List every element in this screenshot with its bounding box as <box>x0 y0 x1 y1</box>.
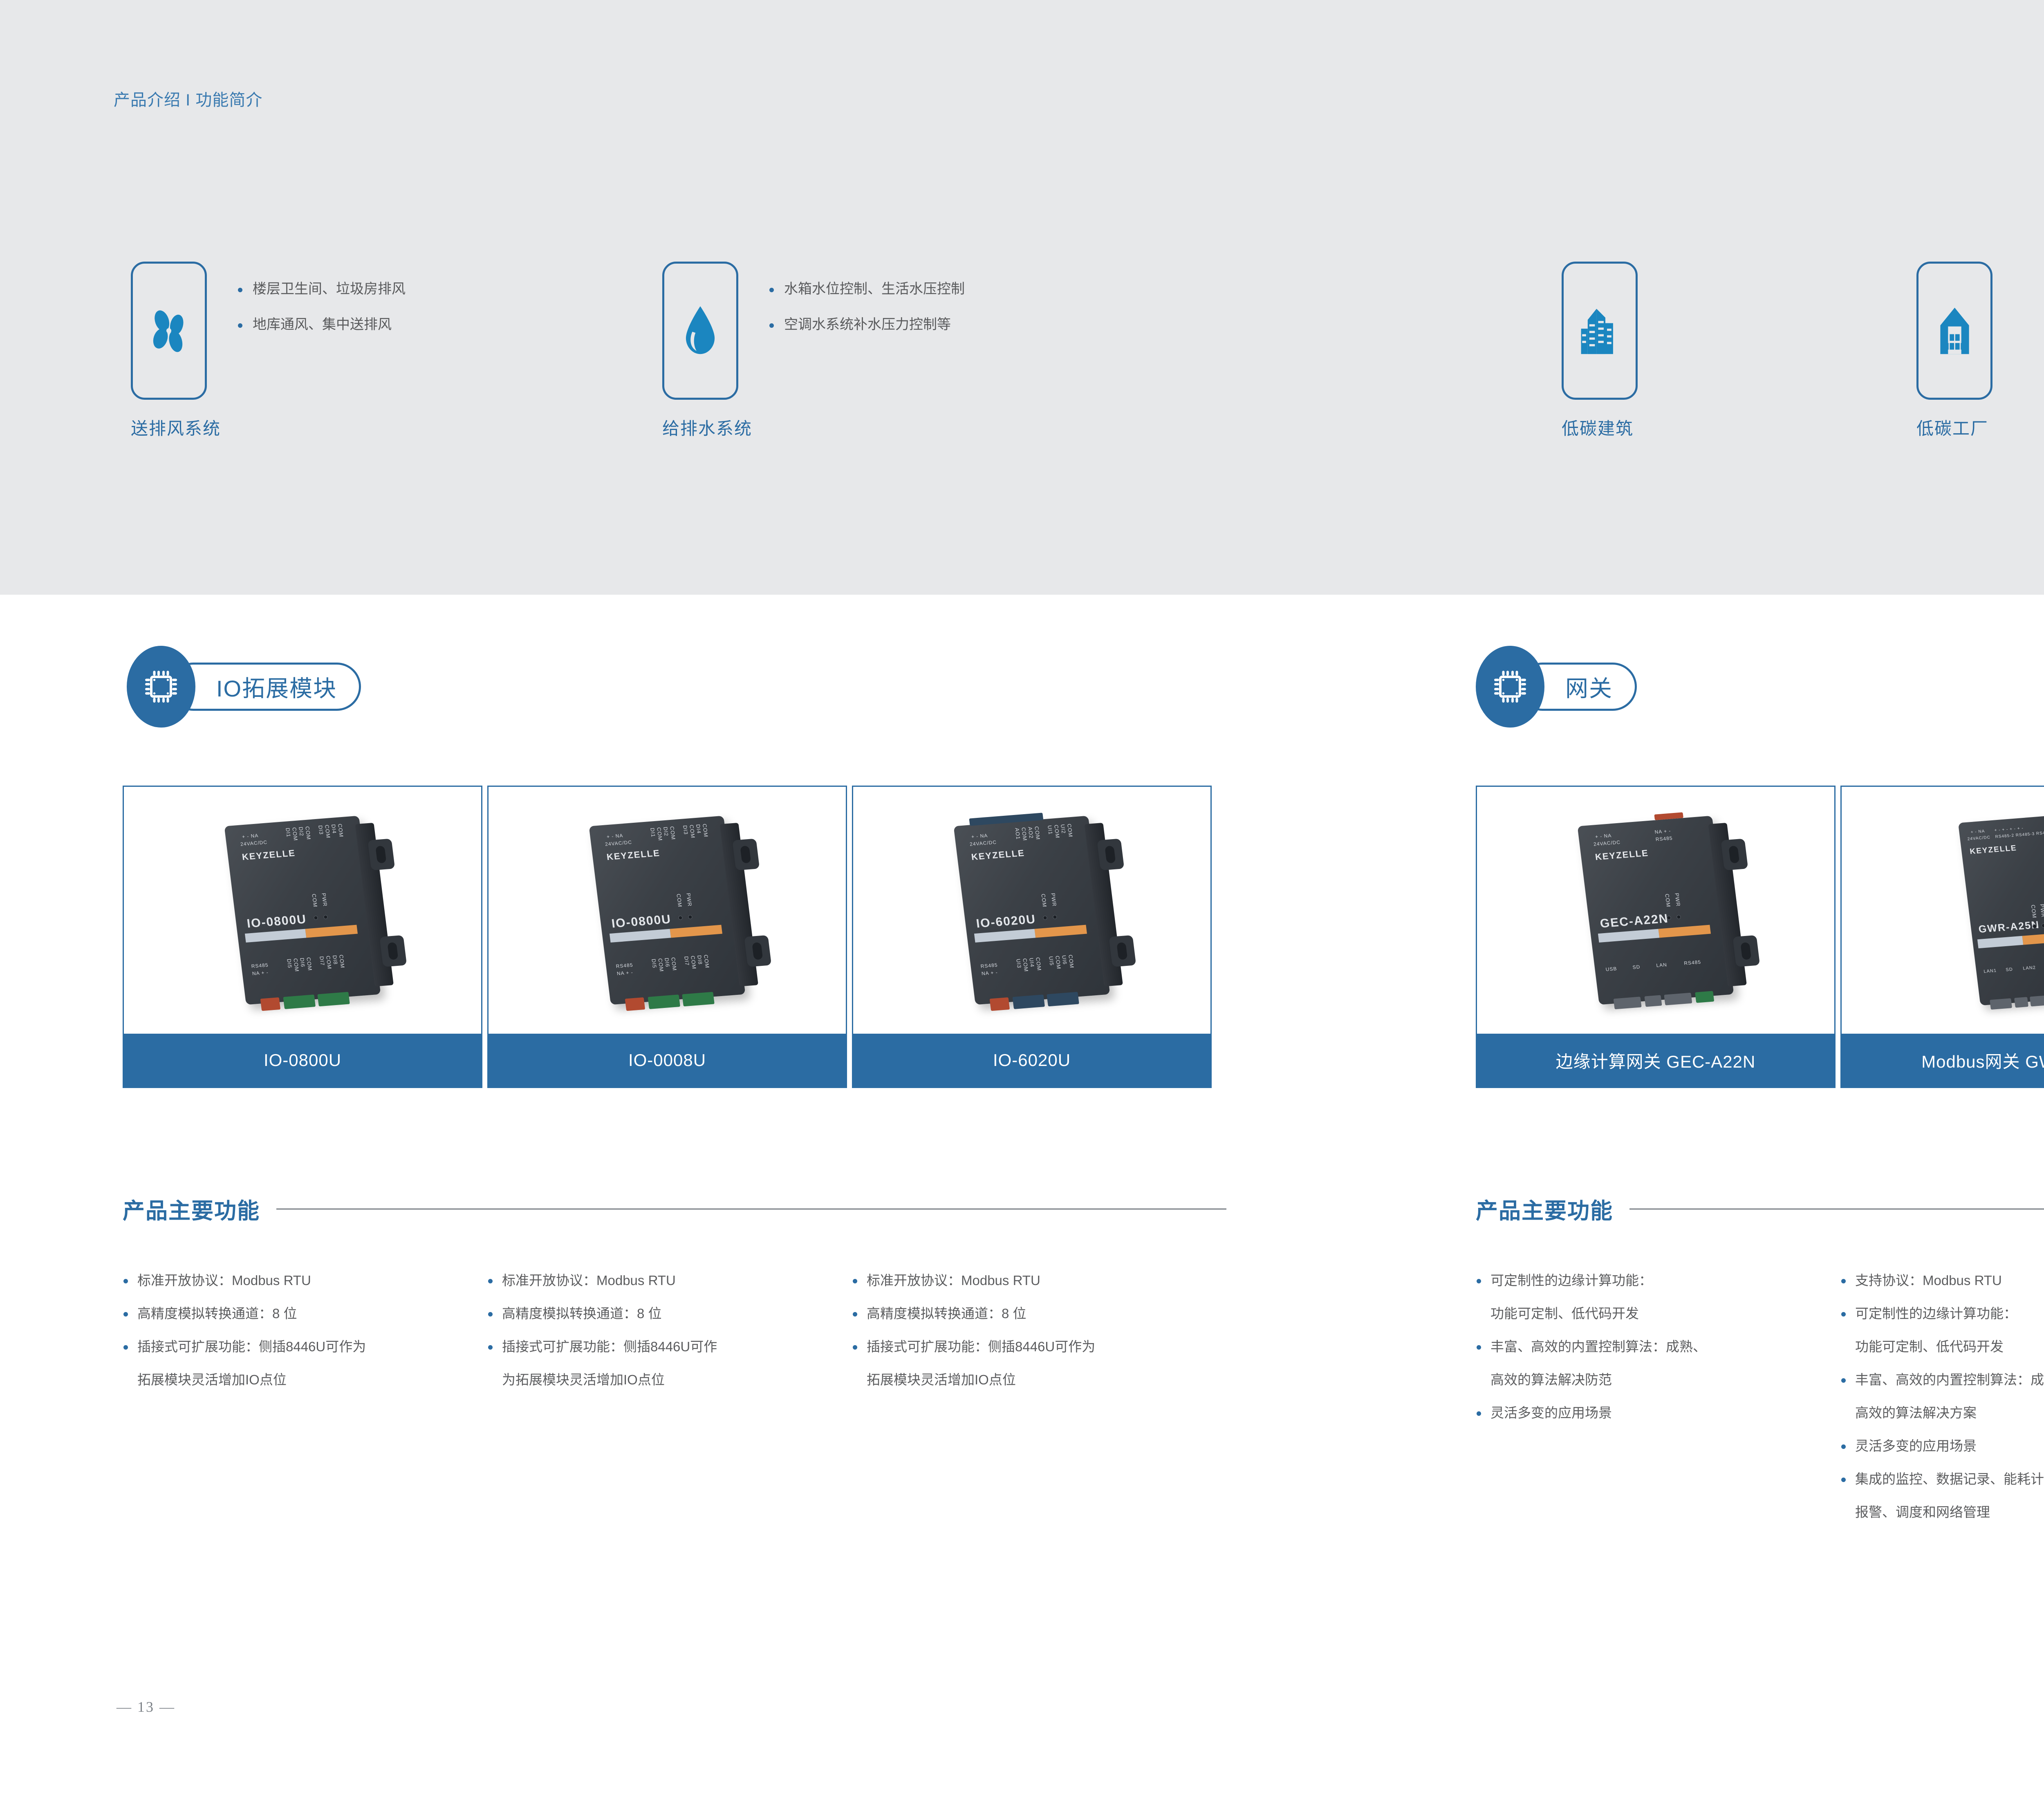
feature-list: 标准开放协议：Modbus RTU 高精度模拟转换通道：8 位 插接式可扩展功能… <box>123 1274 462 1406</box>
feature-list: 标准开放协议：Modbus RTU 高精度模拟转换通道：8 位 插接式可扩展功能… <box>852 1274 1191 1406</box>
device-brand: KEYZELLE <box>971 848 1026 862</box>
feature-item: 标准开放协议：Modbus RTU <box>852 1274 1191 1287</box>
device-port-label: LAN1 <box>1983 968 1997 974</box>
device-rs485-pins-top: + - + - + - + - <box>1994 826 2024 833</box>
features-title: 产品主要功能 <box>123 1193 260 1225</box>
device-terminal: COM <box>1033 826 1041 840</box>
device-terminal: DI3 <box>317 825 325 835</box>
water-drop-icon <box>662 262 738 400</box>
device-terminal: DI4 <box>330 824 338 834</box>
product-card[interactable]: + - NA 24VAC/DC KEYZELLE DI1 COM DI2 COM… <box>123 786 482 1088</box>
device-rs485-label: RS485 <box>980 962 998 969</box>
bullet-item: 楼层卫生间、垃圾房排风 <box>235 282 406 296</box>
device-terminal: DI1 <box>649 828 657 837</box>
device-terminal: COM <box>338 954 346 968</box>
scenario-bullets: 楼层卫生间、垃圾房排风 地库通风、集中送排风 <box>235 262 406 353</box>
device-power-pins: + - NA <box>1970 829 1985 835</box>
scenario-low-carbon-factory: 低碳工厂 <box>1916 262 1992 400</box>
section-badge-label: 网关 <box>1565 670 1613 703</box>
divider <box>1629 1208 2044 1210</box>
device-port-label: USB <box>1605 966 1617 972</box>
device-terminal: COM <box>669 826 677 840</box>
device-port-label: LAN2 <box>2023 965 2036 971</box>
device-power-label: 24VAC/DC <box>240 839 267 847</box>
feature-item: 标准开放协议：Modbus RTU <box>123 1274 462 1287</box>
device-model: IO-0800U <box>246 912 307 931</box>
device-rs485-label: RS485 <box>616 962 633 969</box>
scenario-low-carbon-building: 低碳建筑 <box>1562 262 1638 400</box>
features-header: 产品主要功能 <box>123 1193 1226 1225</box>
product-label: IO-0800U <box>124 1034 481 1087</box>
device-terminal: DI7 <box>318 956 326 966</box>
device-power-pins: + - NA <box>242 833 259 840</box>
feature-item: 插接式可扩展功能：侧插8446U可作为拓展模块灵活增加IO点位 <box>487 1340 827 1386</box>
device-terminal: DI6 <box>299 958 306 967</box>
feature-list: 支持协议：Modbus RTU 可定制性的边缘计算功能：功能可定制、低代码开发 … <box>1840 1274 2044 1538</box>
feature-item: 丰富、高效的内置控制算法：成熟、高效的算法解决方案 <box>1840 1373 2044 1420</box>
device-terminal: UI4 <box>1028 958 1035 967</box>
page-number-left: — 13 — <box>117 1698 175 1715</box>
scenario-water-supply: 水箱水位控制、生活水压控制 空调水系统补水压力控制等 给排水系统 <box>662 262 965 400</box>
feature-item: 可定制性的边缘计算功能：功能可定制、低代码开发 <box>1476 1274 1815 1320</box>
section-badge-gateway: 网关 <box>1476 646 1637 728</box>
device-terminal: UI2 <box>1060 824 1067 834</box>
device-terminal: UI5 <box>1048 956 1055 966</box>
section-badge-pill: IO拓展模块 <box>169 663 361 711</box>
device-terminal: DI2 <box>662 826 670 836</box>
device-terminal: COM <box>337 824 345 837</box>
device-terminal: UI6 <box>1061 955 1068 965</box>
feature-item: 可定制性的边缘计算功能：功能可定制、低代码开发 <box>1840 1307 2044 1353</box>
bullet-item: 空调水系统补水压力控制等 <box>767 318 965 331</box>
device-led-label: PWR <box>1050 893 1058 907</box>
device-terminal: COM <box>670 957 678 971</box>
product-label: 边缘计算网关 GEC-A22N <box>1477 1034 1834 1087</box>
device-power-label: 24VAC/DC <box>969 839 997 847</box>
device-terminal: DI5 <box>650 958 658 968</box>
device-terminal: DI5 <box>286 958 293 968</box>
device-brand: KEYZELLE <box>242 848 296 862</box>
feature-item: 灵活多变的应用场景 <box>1840 1439 2044 1453</box>
device-brand: KEYZELLE <box>1969 844 2017 856</box>
device-model: GWR-A25N <box>1978 919 2040 936</box>
device-power-label: 24VAC/DC <box>1593 839 1620 847</box>
device-terminal: COM <box>305 957 313 971</box>
device-terminal: COM <box>1066 824 1074 837</box>
bullet-item: 水箱水位控制、生活水压控制 <box>767 282 965 296</box>
feature-item: 标准开放协议：Modbus RTU <box>487 1274 827 1287</box>
scenario-caption: 给排水系统 <box>662 415 752 440</box>
brochure-spread: 产品介绍 I 功能简介 产品介绍 I 功能简介 楼层卫生间、垃圾房排风 地库通风… <box>0 0 2044 1798</box>
feature-item: 插接式可扩展功能：侧插8446U可作为拓展模块灵活增加IO点位 <box>852 1340 1191 1386</box>
device-rs485-pins: NA + - <box>616 970 633 976</box>
product-card[interactable]: + - NA 24VAC/DC + - + - + - + - RS485-2 … <box>1840 786 2044 1088</box>
feature-item: 灵活多变的应用场景 <box>1476 1406 1815 1420</box>
product-label: IO-6020U <box>853 1034 1210 1087</box>
fan-icon <box>131 262 207 400</box>
device-led-label: PWR <box>2039 904 2044 918</box>
chip-icon <box>1476 646 1544 728</box>
device-terminal: COM <box>1035 957 1042 971</box>
product-photo: + - NA 24VAC/DC + - + - + - + - RS485-2 … <box>1842 787 2044 1034</box>
product-card[interactable]: + - NA 24VAC/DC KEYZELLE AO1 COM AO2 COM… <box>852 786 1212 1088</box>
device-terminal: DI3 <box>682 825 689 835</box>
feature-list: 可定制性的边缘计算功能：功能可定制、低代码开发 丰富、高效的内置控制算法：成熟、… <box>1476 1274 1815 1439</box>
product-photo: + - NA 24VAC/DC KEYZELLE DI1 COM DI2 COM… <box>124 787 481 1034</box>
device-terminal: UI1 <box>1047 825 1054 835</box>
feature-item: 高精度模拟转换通道：8 位 <box>852 1307 1191 1320</box>
product-photo: + - NA 24VAC/DC KEYZELLE DI1 COM DI2 COM… <box>489 787 846 1034</box>
features-title: 产品主要功能 <box>1476 1193 1613 1225</box>
feature-list: 标准开放协议：Modbus RTU 高精度模拟转换通道：8 位 插接式可扩展功能… <box>487 1274 827 1406</box>
page-header-left: 产品介绍 I 功能简介 <box>114 87 262 110</box>
scenario-ventilation: 楼层卫生间、垃圾房排风 地库通风、集中送排风 送排风系统 <box>131 262 406 400</box>
product-label: IO-0008U <box>489 1034 846 1087</box>
feature-item: 丰富、高效的内置控制算法：成熟、高效的算法解决防范 <box>1476 1340 1815 1386</box>
device-terminal: COM <box>304 826 312 840</box>
feature-item: 插接式可扩展功能：侧插8446U可作为拓展模块灵活增加IO点位 <box>123 1340 462 1386</box>
device-terminal: DI1 <box>285 828 292 837</box>
feature-item: 高精度模拟转换通道：8 位 <box>487 1307 827 1320</box>
device-led-label: PWR <box>320 893 328 907</box>
section-badge-io: IO拓展模块 <box>127 646 361 728</box>
device-power-label: 24VAC/DC <box>1967 835 1990 841</box>
device-terminal: COM <box>1067 954 1075 968</box>
features-header: 产品主要功能 <box>1476 1193 2044 1225</box>
chip-icon <box>127 646 195 728</box>
device-brand: KEYZELLE <box>606 848 661 862</box>
device-rs485-pins: NA + - <box>981 970 998 976</box>
feature-item: 支持协议：Modbus RTU <box>1840 1274 2044 1287</box>
device-led-label: PWR <box>1674 893 1681 907</box>
device-led-label: COM <box>2030 905 2038 918</box>
bullet-item: 地库通风、集中送排风 <box>235 318 406 331</box>
device-rs485-pins-top: NA + - <box>1654 828 1671 835</box>
product-photo: + - NA 24VAC/DC KEYZELLE AO1 COM AO2 COM… <box>853 787 1210 1034</box>
scenario-caption: 低碳建筑 <box>1562 415 1634 440</box>
scenario-caption: 低碳工厂 <box>1916 415 1988 440</box>
device-led-label: COM <box>675 893 683 907</box>
device-model: IO-0800U <box>611 912 672 931</box>
device-led-label: COM <box>1040 893 1048 907</box>
device-port-label: SD <box>1632 964 1641 970</box>
device-terminal: DI8 <box>696 955 704 965</box>
device-terminal: DI2 <box>298 826 305 836</box>
device-terminal: COM <box>702 824 709 837</box>
office-buildings-icon <box>1562 262 1638 400</box>
device-model: GEC-A22N <box>1599 912 1669 931</box>
feature-item: 高精度模拟转换通道：8 位 <box>123 1307 462 1320</box>
factory-icon <box>1916 262 1992 400</box>
device-led-label: PWR <box>685 893 693 907</box>
product-photo: + - NA 24VAC/DC NA + - RS485 KEYZELLE GE… <box>1477 787 1834 1034</box>
device-terminal: UI3 <box>1015 958 1022 968</box>
product-card[interactable]: + - NA 24VAC/DC NA + - RS485 KEYZELLE GE… <box>1476 786 1836 1088</box>
device-port-label: RS485 <box>1683 959 1701 966</box>
device-power-label: 24VAC/DC <box>605 839 632 847</box>
device-power-pins: + - NA <box>1595 833 1612 840</box>
device-port-label: LAN <box>1656 962 1667 968</box>
device-power-pins: + - NA <box>971 833 988 840</box>
device-terminal: DI7 <box>683 956 690 966</box>
device-led-label: COM <box>1664 893 1672 907</box>
device-terminal: DI8 <box>332 955 339 965</box>
feature-item: 集成的监控、数据记录、能耗计量、报警、调度和网络管理 <box>1840 1472 2044 1519</box>
divider <box>276 1208 1226 1210</box>
device-rs485-pins: NA + - <box>252 970 269 976</box>
device-power-pins: + - NA <box>606 833 623 840</box>
device-rs485-label-top: RS485 <box>1655 835 1673 842</box>
device-terminal: DI6 <box>663 958 671 967</box>
product-card[interactable]: + - NA 24VAC/DC KEYZELLE DI1 COM DI2 COM… <box>487 786 847 1088</box>
product-label: Modbus网关 GWR-A25N <box>1842 1034 2044 1087</box>
device-port-label: SD <box>2006 967 2013 972</box>
device-terminal: DI4 <box>695 824 702 834</box>
scenario-bullets: 水箱水位控制、生活水压控制 空调水系统补水压力控制等 <box>767 262 965 353</box>
scenario-caption: 送排风系统 <box>131 415 221 440</box>
device-brand: KEYZELLE <box>1595 848 1650 862</box>
device-terminal: COM <box>703 954 710 968</box>
section-badge-label: IO拓展模块 <box>216 670 337 703</box>
device-rs485-label: RS485 <box>251 962 269 969</box>
device-led-label: COM <box>311 893 318 907</box>
device-model: IO-6020U <box>975 912 1037 931</box>
